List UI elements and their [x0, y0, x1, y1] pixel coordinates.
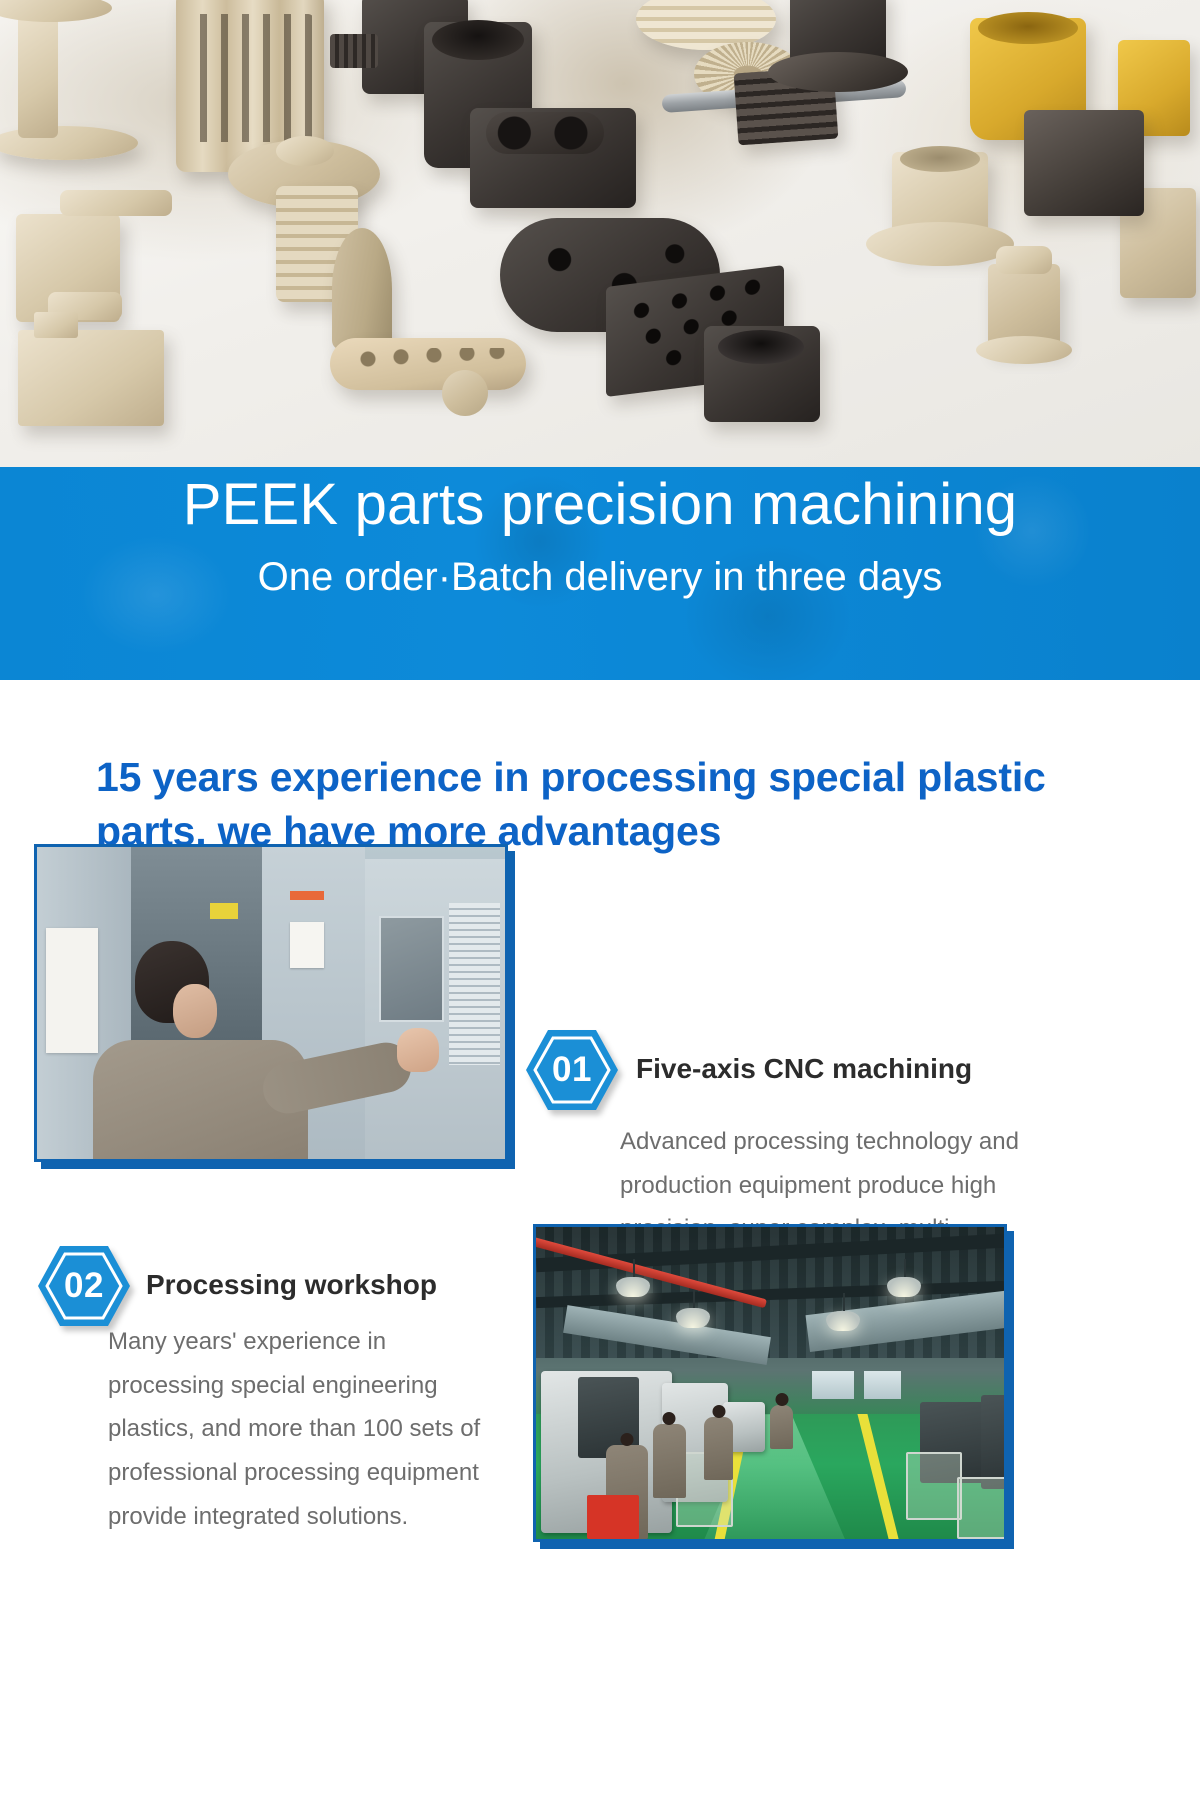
part-pump-block [1024, 110, 1144, 216]
part-flanged-bushing-flange [866, 222, 1014, 266]
workshop-rack-2 [906, 1452, 962, 1521]
feature-title-01: Five-axis CNC machining [636, 1053, 972, 1085]
workshop-photo [533, 1224, 1007, 1542]
workshop-worker-4 [770, 1405, 793, 1449]
part-bracket-bores [486, 112, 604, 154]
part-tan-plug-cap [996, 246, 1052, 274]
cnc-warning-label-orange [290, 891, 324, 900]
workshop-window-1 [812, 1371, 854, 1399]
workshop-lamp-1 [616, 1277, 650, 1297]
feature-badge-01-number: 01 [524, 1028, 620, 1112]
workshop-lamp-2 [676, 1308, 710, 1328]
part-flange-hub [276, 136, 334, 166]
part-black-tube-bore [432, 20, 524, 60]
feature-body-02: Many years' experience in processing spe… [108, 1320, 508, 1538]
workshop-lamp-4 [887, 1277, 921, 1297]
cnc-keypad [449, 903, 500, 1065]
banner-title: PEEK parts precision machining [0, 475, 1200, 536]
feature-badge-02: 02 [36, 1244, 132, 1328]
workshop-photo-inner [536, 1227, 1004, 1539]
feature-badge-01: 01 [524, 1028, 620, 1112]
cnc-photo-inner [37, 847, 505, 1159]
title-banner: PEEK parts precision machining One order… [0, 467, 1200, 680]
workshop-machine-right-2 [981, 1395, 1004, 1489]
cnc-display-screen [379, 916, 445, 1022]
workshop-worker-2 [653, 1424, 686, 1499]
workshop-tool-cart [587, 1495, 638, 1539]
cnc-operator-photo [34, 844, 508, 1162]
cnc-operator-hand [397, 1028, 439, 1072]
part-black-flange-disc [768, 52, 908, 92]
part-cage-slots [186, 14, 314, 142]
feature-badge-02-number: 02 [36, 1244, 132, 1328]
part-tan-arm-holes [356, 348, 506, 370]
cnc-caution-label-yellow [210, 903, 238, 919]
banner-subtitle: One order·Batch delivery in three days [0, 555, 1200, 599]
part-tan-arm-boss [442, 370, 488, 416]
part-tan-cone [332, 228, 392, 350]
cnc-instruction-label [290, 922, 324, 968]
part-stepped-plate-notch [34, 312, 78, 338]
part-black-cup-bore [718, 330, 804, 364]
feature-title-02: Processing workshop [146, 1269, 437, 1301]
workshop-worker-3 [704, 1417, 732, 1479]
part-amber-cup-bore [978, 12, 1078, 44]
page-headline: 15 years experience in processing specia… [96, 750, 1056, 858]
product-detail-page: PEEK parts precision machining One order… [0, 0, 1200, 1796]
workshop-lamp-3 [826, 1311, 860, 1331]
workshop-rack-3 [957, 1477, 1004, 1539]
part-manifold-nipple [60, 190, 172, 216]
cnc-clipboard-paper [46, 928, 97, 1053]
part-flanged-bushing-bore [900, 146, 980, 172]
workshop-window-2 [864, 1371, 901, 1399]
part-threaded-nipple [330, 34, 378, 68]
cnc-operator-face [173, 984, 217, 1038]
part-spool-shaft [18, 14, 58, 138]
part-tan-plug-base [976, 336, 1072, 364]
part-stepped-plate [18, 330, 164, 426]
hero-product-photo [0, 0, 1200, 467]
